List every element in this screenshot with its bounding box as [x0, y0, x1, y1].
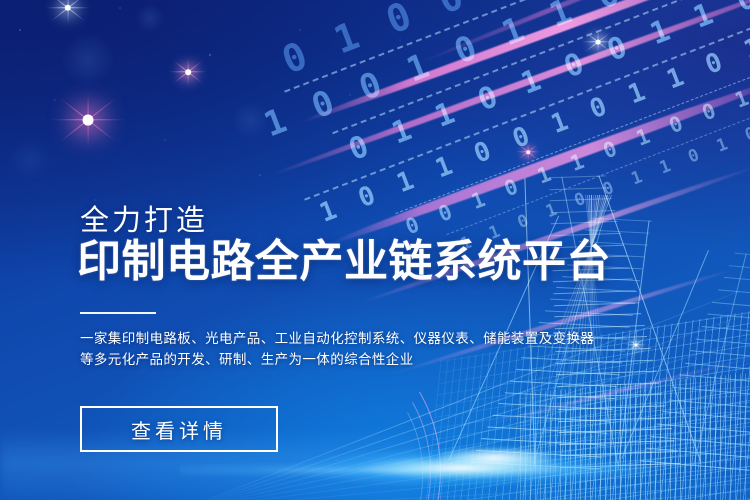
hero-description-line: 一家集印制电路板、光电产品、工业自动化控制系统、仪器仪表、储能装置及变换器: [80, 328, 560, 349]
hero-headline: 印制电路全产业链系统平台: [77, 238, 611, 286]
hero-eyebrow: 全力打造: [80, 197, 208, 239]
hero-description-line: 等多元化产品的开发、研制、生产为一体的综合性企业: [80, 349, 560, 370]
hero-divider: [80, 312, 156, 314]
view-details-button[interactable]: 查看详情: [80, 406, 278, 452]
hero-description: 一家集印制电路板、光电产品、工业自动化控制系统、仪器仪表、储能装置及变换器 等多…: [80, 328, 560, 370]
hero-content: 全力打造 印制电路全产业链系统平台 一家集印制电路板、光电产品、工业自动化控制系…: [0, 0, 750, 500]
hero-banner: 1 0 1 0 0 1 1 0 1 0 0 1 0 1 1 0 0 1 0 0 …: [0, 0, 750, 500]
